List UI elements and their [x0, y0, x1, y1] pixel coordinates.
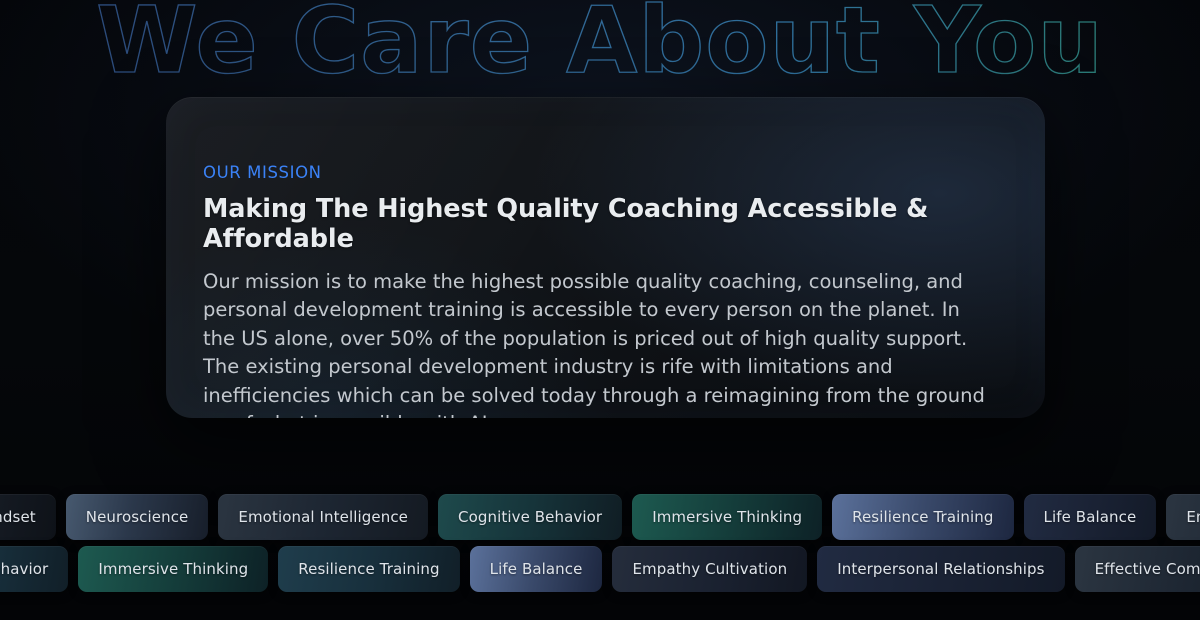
topic-chip[interactable]: Life Balance	[470, 546, 603, 592]
topic-chip[interactable]: Interpersonal Relationships	[817, 546, 1064, 592]
hero-headline-svg: We Care About You	[0, 0, 1200, 104]
topic-chip[interactable]: Immersive Thinking	[78, 546, 268, 592]
topic-chip[interactable]: Cognitive Behavior	[438, 494, 622, 540]
mission-body-text: Our mission is to make the highest possi…	[203, 268, 986, 418]
topic-chip[interactable]: Neuroscience	[66, 494, 209, 540]
topic-chip[interactable]: Mindset	[0, 494, 56, 540]
topic-chip[interactable]: Immersive Thinking	[632, 494, 822, 540]
mission-eyebrow-label: OUR MISSION	[203, 163, 986, 182]
topic-chip[interactable]: Emotional Intelligence	[218, 494, 428, 540]
hero-headline-text: We Care About You	[96, 0, 1104, 94]
topic-marquee-row-1[interactable]: MindsetNeuroscienceEmotional Intelligenc…	[0, 494, 1156, 540]
topic-chip[interactable]: Effective Communication	[1075, 546, 1200, 592]
mission-title: Making The Highest Quality Coaching Acce…	[203, 194, 986, 254]
topic-marquee: MindsetNeuroscienceEmotional Intelligenc…	[0, 485, 1200, 603]
mission-card-content: OUR MISSION Making The Highest Quality C…	[166, 97, 986, 418]
topic-chip[interactable]: Life Balance	[1024, 494, 1157, 540]
topic-chip[interactable]: Empathy Cultivation	[1166, 494, 1200, 540]
topic-chip[interactable]: Resilience Training	[278, 546, 459, 592]
topic-marquee-row-2[interactable]: gnitive BehaviorImmersive ThinkingResili…	[0, 546, 1104, 592]
topic-chip[interactable]: gnitive Behavior	[0, 546, 68, 592]
hero-headline-container: We Care About You	[0, 0, 1200, 104]
topic-chip[interactable]: Empathy Cultivation	[612, 546, 807, 592]
mission-card: OUR MISSION Making The Highest Quality C…	[166, 97, 1045, 418]
topic-chip[interactable]: Resilience Training	[832, 494, 1013, 540]
page-root: We Care About You OUR MISSION Making The…	[0, 0, 1200, 620]
